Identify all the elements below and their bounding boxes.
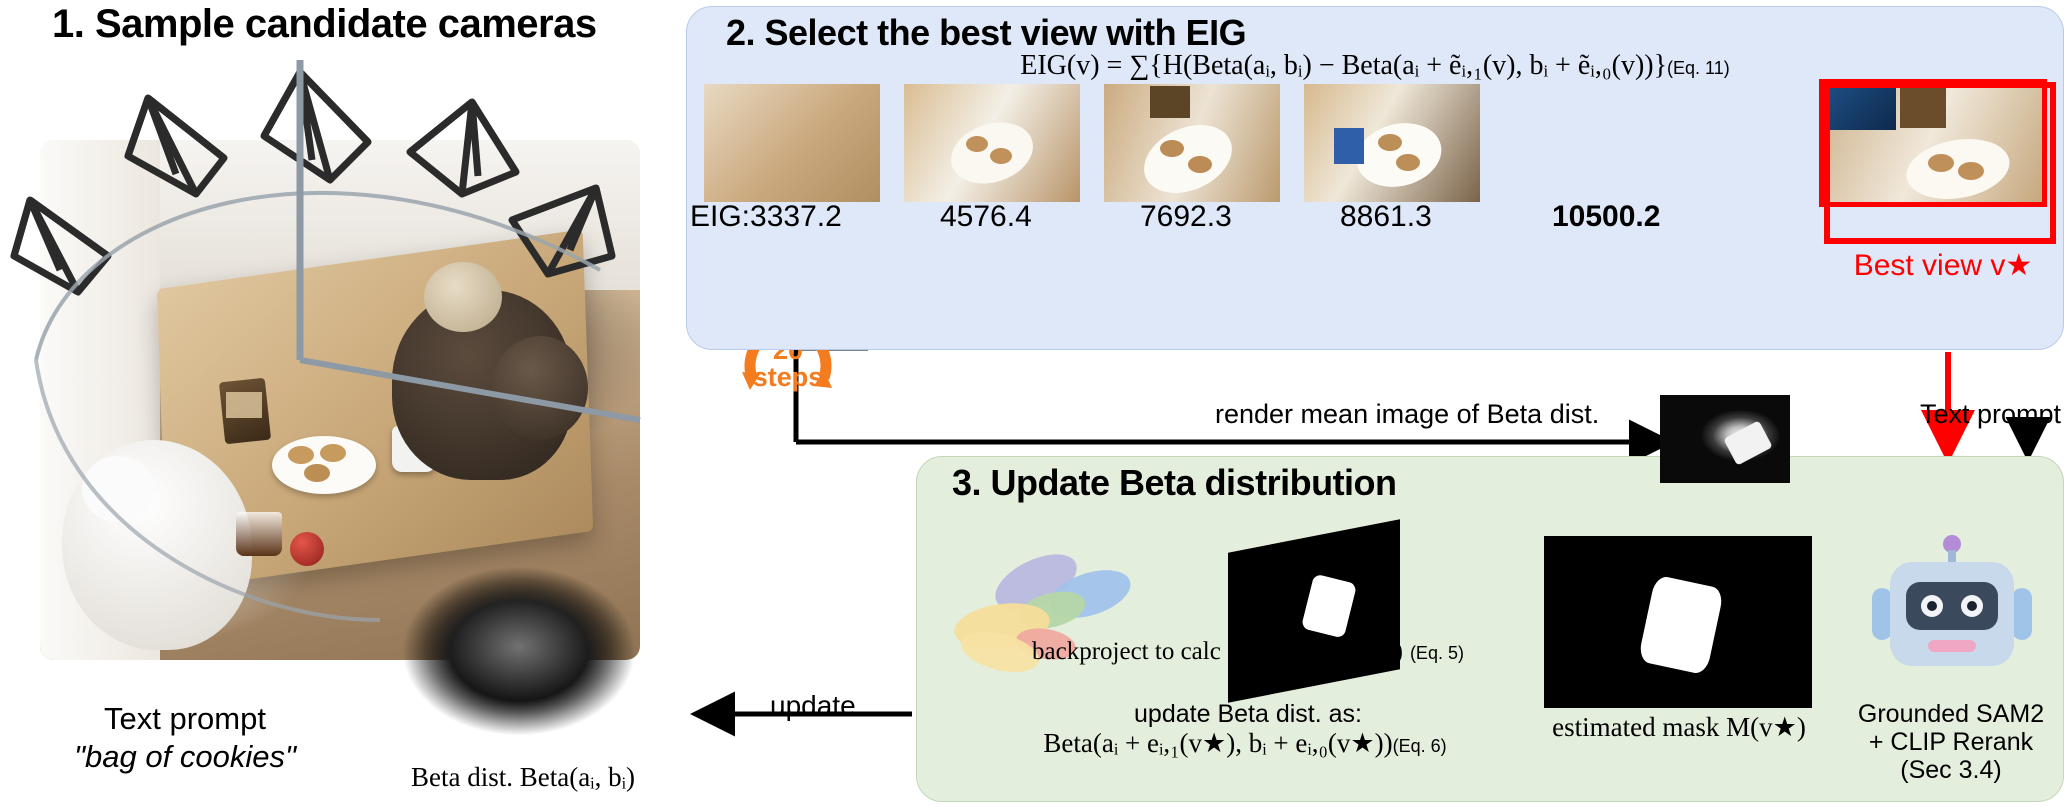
text-prompt-label: Text prompt <box>40 700 330 738</box>
update-beta-label: update Beta dist. as: <box>938 700 1558 729</box>
candidate-thumb-1[interactable] <box>704 84 880 202</box>
thumb-cookie <box>1928 154 1954 172</box>
beta-dist-caption: Beta dist. Beta(aᵢ, bᵢ) <box>308 762 738 793</box>
candidate-thumb-3[interactable] <box>1104 84 1280 202</box>
thumb-cookie <box>1188 156 1212 173</box>
grounded-sam2-robot-icon <box>1862 530 2042 690</box>
backproject-tag: (Eq. 5) <box>1410 643 1464 663</box>
thumb-plate <box>1133 112 1242 202</box>
thumb-bag <box>1900 88 1946 128</box>
eig-values-row: EIG:3337.2 4576.4 7692.3 8861.3 10500.2 <box>690 200 2060 240</box>
update-formula-text: Beta(aᵢ + eᵢ,₁(v★), bᵢ + eᵢ,₀(v★)) <box>1043 728 1392 758</box>
eig-value-2: 4576.4 <box>940 200 1032 234</box>
candidate-view-thumbnails <box>704 84 2054 204</box>
beta-distribution-render <box>370 540 668 762</box>
panel2-title: 2. Select the best view with EIG <box>726 12 1246 54</box>
estimated-mask-image <box>1544 536 1812 708</box>
eig-formula: EIG(v) = ∑{H(Beta(aᵢ, bᵢ) − Beta(aᵢ + ẽᵢ… <box>700 50 2050 82</box>
candidate-thumb-4[interactable] <box>1304 84 1480 202</box>
thumb-cookie <box>1378 134 1402 151</box>
text-prompt-arrow-label: Text prompt <box>1920 399 2061 430</box>
eig-value-5-best: 10500.2 <box>1552 200 1660 234</box>
eig-label-prefix: EIG:3337.2 <box>690 200 842 234</box>
thumb-bag <box>1150 86 1190 118</box>
eig-formula-text: EIG(v) = ∑{H(Beta(aᵢ, bᵢ) − Beta(aᵢ + ẽᵢ… <box>1020 50 1667 81</box>
sam-line-1: Grounded SAM2 <box>1846 700 2056 728</box>
eig-value-1: 3337.2 <box>750 200 842 233</box>
projection-mask-blob <box>1301 574 1357 639</box>
estimated-mask-label: estimated mask M(v★) <box>1514 712 1844 743</box>
thumb-cookie <box>1160 140 1184 157</box>
candidate-thumb-2[interactable] <box>904 84 1080 202</box>
eig-value-3: 7692.3 <box>1140 200 1232 234</box>
backproject-text: backproject to calc eᵢ,₁(v★), eᵢ,₀(v★) <box>1032 638 1403 665</box>
update-formula-tag: (Eq. 6) <box>1393 736 1447 756</box>
eig-formula-tag: (Eq. 11) <box>1667 58 1730 78</box>
thumb-bag <box>1334 128 1364 164</box>
thumb-cookie <box>1396 154 1420 171</box>
loop-unit: steps <box>753 364 824 391</box>
panel3-title: 3. Update Beta distribution <box>952 462 1397 504</box>
candidate-thumb-5-best[interactable] <box>1824 84 2042 202</box>
eig-value-4: 8861.3 <box>1340 200 1432 234</box>
update-beta-formula: Beta(aᵢ + eᵢ,₁(v★), bᵢ + eᵢ,₀(v★))(Eq. 6… <box>920 728 1570 759</box>
sam-line-3: (Sec 3.4) <box>1846 756 2056 784</box>
scene-text-prompt: Text prompt "bag of cookies" <box>40 700 330 776</box>
thumb-window <box>1824 84 1896 130</box>
beta-mean-image <box>1660 395 1790 483</box>
thumb-cookie <box>990 148 1012 164</box>
thumb-cookie <box>966 136 988 152</box>
text-prompt-value: "bag of cookies" <box>40 738 330 776</box>
render-mean-arrow-label: render mean image of Beta dist. <box>1215 399 1599 430</box>
thumb-plate <box>1350 115 1448 196</box>
grounded-sam2-label: Grounded SAM2 + CLIP Rerank (Sec 3.4) <box>1846 700 2056 784</box>
beta-distribution-ellipses <box>940 540 1220 690</box>
sam-line-2: + CLIP Rerank <box>1846 728 2056 756</box>
panel1-title: 1. Sample candidate cameras <box>52 2 597 47</box>
best-view-label: Best view v★ <box>1838 248 2048 283</box>
mask-blob <box>1637 574 1724 675</box>
thumb-cookie <box>1958 162 1984 180</box>
beta-mean-blob <box>1723 421 1772 466</box>
update-arrow-label: update <box>770 690 856 722</box>
backproject-label: backproject to calc eᵢ,₁(v★), eᵢ,₀(v★) (… <box>938 636 1558 666</box>
